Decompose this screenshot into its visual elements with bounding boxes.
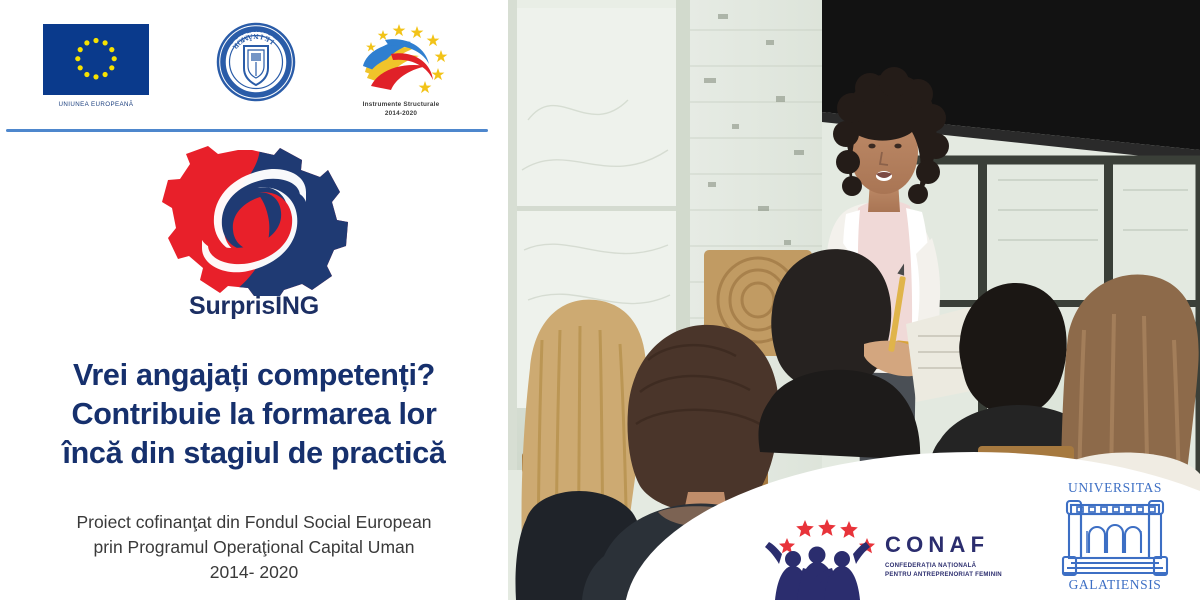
surprising-gear-logo-icon [156,146,352,296]
structural-instruments-caption: Instrumente Structurale 2014-2020 [330,100,472,119]
funding-subtitle: Proiect cofinanţat din Fondul Social Eur… [0,510,508,585]
university-bottom-text: GALATIENSIS [1040,577,1190,593]
conaf-name: CONAF [885,534,1025,556]
eu-logo-caption: UNIUNEA EUROPEANĂ [32,101,160,108]
brand-name-label: SurprisING [0,292,508,321]
conaf-logo: CONAF CONFEDERAȚIA NAȚIONALĂ PENTRU ANTR… [755,506,1025,600]
government-of-romania-logo: G U V E R N U L R O M Â N [200,22,312,102]
left-content-panel: UNIUNEA EUROPEANĂ G [0,0,508,600]
university-logo: UNIVERSITAS [1040,480,1190,600]
structural-instruments-logo: Instrumente Structurale 2014-2020 [330,20,472,119]
horizontal-divider [6,129,488,132]
subtitle-line1: Proiect cofinanţat din Fondul Social Eur… [0,510,508,535]
subtitle-line3: 2014- 2020 [0,560,508,585]
subtitle-line2: prin Programul Operaţional Capital Uman [0,535,508,560]
structural-caption-line1: Instrumente Structurale [330,100,472,109]
university-building-icon [1061,497,1169,577]
promotional-banner: UNIUNEA EUROPEANĂ G [0,0,1200,600]
headline-line1: Vrei angajați competenți? [0,356,508,395]
headline: Vrei angajați competenți? Contribuie la … [0,356,508,473]
partner-logos: CONAF CONFEDERAȚIA NAȚIONALĂ PENTRU ANTR… [755,498,1200,600]
funding-logos-row: UNIUNEA EUROPEANĂ G [0,14,508,122]
structural-caption-line2: 2014-2020 [330,109,472,118]
headline-line2: Contribuie la formarea lor [0,395,508,434]
conaf-tagline: CONFEDERAȚIA NAȚIONALĂ PENTRU ANTREPRENO… [885,561,1025,580]
structural-instruments-icon [341,20,461,98]
conaf-tagline-line1: CONFEDERAȚIA NAȚIONALĂ [885,561,1025,570]
conaf-wordmark: CONAF CONFEDERAȚIA NAȚIONALĂ PENTRU ANTR… [885,534,1025,580]
surprising-brand: SurprisING [0,146,508,321]
headline-line3: încă din stagiul de practică [0,434,508,473]
eu-flag-icon [43,24,149,95]
eu-logo: UNIUNEA EUROPEANĂ [32,24,160,108]
government-seal-icon: G U V E R N U L R O M Â N [216,22,296,102]
university-top-text: UNIVERSITAS [1040,480,1190,496]
conaf-figures-icon [755,506,880,600]
conaf-tagline-line2: PENTRU ANTREPRENORIAT FEMININ [885,570,1025,579]
eu-stars-icon [43,24,149,95]
svg-text:N: N [253,32,259,41]
